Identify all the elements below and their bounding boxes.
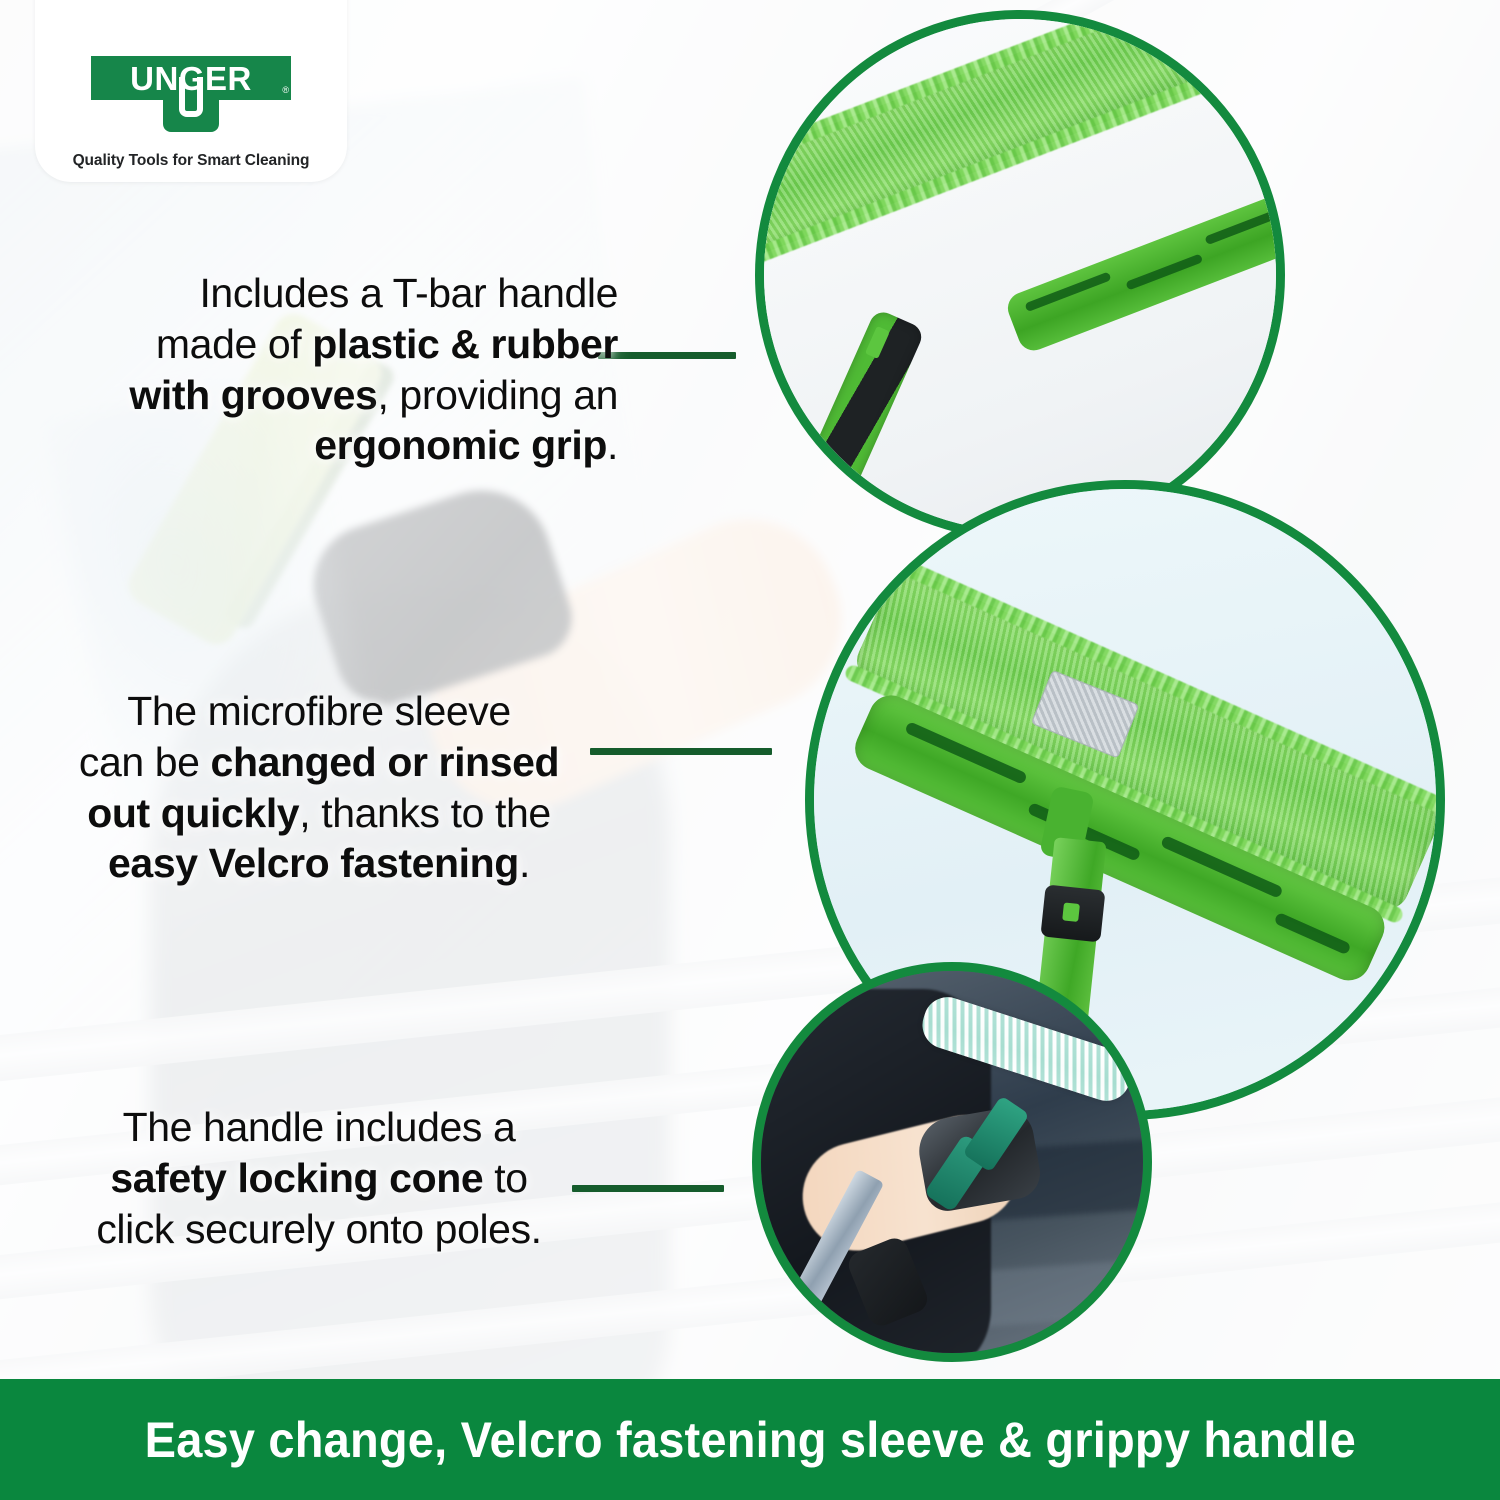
feature-2-line-2-bold: changed or rinsed — [211, 739, 560, 785]
feature-2-line-4-bold: easy Velcro fastening — [108, 840, 519, 886]
feature-2-line-2-plain: can be — [79, 739, 211, 785]
brand-logo: UNGER ® Quality Tools for Smart Cleaning — [35, 0, 347, 182]
bottom-banner: Easy change, Velcro fastening sleeve & g… — [0, 1379, 1500, 1500]
safety-locking-cone — [1040, 884, 1105, 942]
feature-2-line-3-plain: , thanks to the — [299, 790, 551, 836]
brand-tagline: Quality Tools for Smart Cleaning — [73, 152, 310, 170]
feature-1-line-1: Includes a T-bar handle — [199, 270, 618, 316]
feature-text-safety-locking-cone: The handle includes a safety locking con… — [30, 1102, 608, 1254]
feature-2-line-3-bold: out quickly — [87, 790, 299, 836]
feature-3-line-3: click securely onto poles. — [96, 1206, 541, 1252]
unger-logo-g-descender — [163, 99, 219, 132]
registered-trademark-icon: ® — [282, 86, 289, 95]
feature-2-line-1: The microfibre sleeve — [127, 688, 511, 734]
connector-line-ergonomic-grip — [598, 352, 736, 359]
infographic-canvas: UNGER ® Quality Tools for Smart Cleaning — [0, 0, 1500, 1500]
locking-cone-icon — [865, 326, 890, 359]
unger-logo-mark: UNGER ® — [91, 56, 291, 142]
feature-1-line-3-plain: , providing an — [377, 372, 618, 418]
feature-1-line-3-bold: with grooves — [129, 372, 377, 418]
bottom-banner-text: Easy change, Velcro fastening sleeve & g… — [144, 1411, 1355, 1469]
feature-text-velcro-fastening: The microfibre sleeve can be changed or … — [30, 686, 608, 889]
connector-line-velcro-fastening — [590, 748, 772, 755]
feature-1-line-4-plain: . — [607, 422, 618, 468]
t-bar-handle-image — [764, 19, 1276, 531]
feature-1-line-4-bold: ergonomic grip — [314, 422, 607, 468]
feature-1-line-2-plain: made of — [156, 321, 312, 367]
callout-circle-pole-in-use-photo — [752, 962, 1152, 1362]
feature-3-line-2-plain: to — [483, 1155, 527, 1201]
velcro-patch — [1031, 670, 1140, 759]
pole-in-use-image — [761, 971, 1143, 1353]
feature-3-line-1: The handle includes a — [123, 1104, 516, 1150]
callout-circle-t-bar-handle-closeup — [755, 10, 1285, 540]
feature-2-line-4-plain: . — [519, 840, 530, 886]
feature-1-line-2-bold: plastic & rubber — [312, 321, 618, 367]
feature-text-ergonomic-grip: Includes a T-bar handle made of plastic … — [40, 268, 618, 471]
feature-3-line-2-bold: safety locking cone — [110, 1155, 483, 1201]
